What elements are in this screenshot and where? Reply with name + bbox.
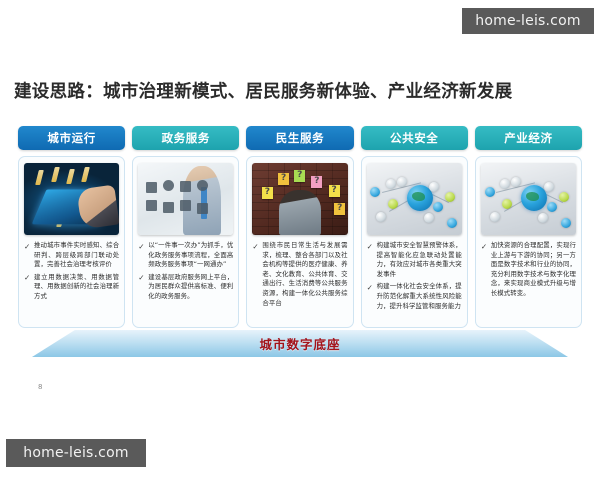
bullet-list: ✓ 推动城市事件实时感知、综合研判、跨层级跨部门联动处置，完善社会治理考核评价 … — [24, 241, 119, 322]
public-safety-photo — [367, 163, 462, 235]
public-livelihood-photo — [252, 163, 347, 235]
card-public-safety[interactable]: ✓ 构建城市安全智慧预警体系，提高智能化应急联动处置能力，有效应对城市各类重大突… — [361, 156, 468, 328]
tab-industry-economy[interactable]: 产业经济 — [475, 126, 582, 150]
tab-label: 政务服务 — [162, 130, 210, 146]
card-government-service[interactable]: ✓ 以“一件事一次办”为抓手，优化政务服务事项流程，全面高频政务服务事项“一网通… — [132, 156, 239, 328]
bullet-text: 围绕市民日常生活与发展需求，梳理、整合各部门以及社会机构等提供的医疗健康、养老、… — [262, 241, 347, 308]
bullet-text: 构建城市安全智慧预警体系，提高智能化应急联动处置能力，有效应对城市各类重大突发事… — [377, 241, 462, 279]
digital-foundation-label: 城市数字底座 — [259, 334, 340, 353]
bullet-list: ✓ 围绕市民日常生活与发展需求，梳理、整合各部门以及社会机构等提供的医疗健康、养… — [252, 241, 347, 322]
bullet-text: 构建一体化社会安全体系，提升防范化解重大系统性风险能力，提升科学监管和服务能力 — [377, 282, 462, 311]
watermark-bottom: home-leis.com — [6, 439, 146, 467]
tab-government-service[interactable]: 政务服务 — [132, 126, 239, 150]
card-row: ✓ 推动城市事件实时感知、综合研判、跨层级跨部门联动处置，完善社会治理考核评价 … — [18, 156, 582, 328]
list-item: ✓ 加快资源的合理配置，实现行业上游与下游的协同；另一方面是数字技术和行业的协同… — [481, 241, 576, 299]
bullet-list: ✓ 构建城市安全智慧预警体系，提高智能化应急联动处置能力，有效应对城市各类重大突… — [367, 241, 462, 322]
tab-public-livelihood[interactable]: 民生服务 — [246, 126, 353, 150]
check-icon: ✓ — [24, 273, 32, 283]
bullet-text: 建设基层政府服务网上平台，为居民群众提供高标准、便利化的政务服务。 — [148, 273, 233, 302]
check-icon: ✓ — [252, 242, 260, 252]
bullet-list: ✓ 加快资源的合理配置，实现行业上游与下游的协同；另一方面是数字技术和行业的协同… — [481, 241, 576, 322]
bullet-text: 加快资源的合理配置，实现行业上游与下游的协同；另一方面是数字技术和行业的协同，充… — [491, 241, 576, 299]
bullet-text: 推动城市事件实时感知、综合研判、跨层级跨部门联动处置，完善社会治理考核评价 — [34, 241, 119, 270]
card-industry-economy[interactable]: ✓ 加快资源的合理配置，实现行业上游与下游的协同；另一方面是数字技术和行业的协同… — [475, 156, 582, 328]
list-item: ✓ 以“一件事一次办”为抓手，优化政务服务事项流程，全面高频政务服务事项“一网通… — [138, 241, 233, 270]
tab-label: 城市运行 — [47, 130, 95, 146]
list-item: ✓ 围绕市民日常生活与发展需求，梳理、整合各部门以及社会机构等提供的医疗健康、养… — [252, 241, 347, 308]
list-item: ✓ 建设基层政府服务网上平台，为居民群众提供高标准、便利化的政务服务。 — [138, 273, 233, 302]
tab-public-safety[interactable]: 公共安全 — [361, 126, 468, 150]
slide-canvas: home-leis.com 建设思路：城市治理新模式、居民服务新体验、产业经济新… — [0, 0, 600, 480]
check-icon: ✓ — [367, 242, 375, 252]
tab-label: 产业经济 — [504, 130, 552, 146]
city-operation-photo — [24, 163, 119, 235]
tab-city-operation[interactable]: 城市运行 — [18, 126, 125, 150]
bullet-text: 建立用数据决策、用数据管理、用数据创新的社会治理新方式 — [34, 273, 119, 302]
tab-label: 公共安全 — [390, 130, 438, 146]
list-item: ✓ 构建一体化社会安全体系，提升防范化解重大系统性风险能力，提升科学监管和服务能… — [367, 282, 462, 311]
government-service-photo — [138, 163, 233, 235]
category-tab-strip: 城市运行 政务服务 民生服务 公共安全 产业经济 — [18, 126, 582, 150]
bullet-list: ✓ 以“一件事一次办”为抓手，优化政务服务事项流程，全面高频政务服务事项“一网通… — [138, 241, 233, 322]
check-icon: ✓ — [138, 273, 146, 283]
industry-economy-photo — [481, 163, 576, 235]
watermark-top: home-leis.com — [462, 8, 594, 34]
check-icon: ✓ — [138, 242, 146, 252]
tab-label: 民生服务 — [276, 130, 324, 146]
list-item: ✓ 建立用数据决策、用数据管理、用数据创新的社会治理新方式 — [24, 273, 119, 302]
card-city-operation[interactable]: ✓ 推动城市事件实时感知、综合研判、跨层级跨部门联动处置，完善社会治理考核评价 … — [18, 156, 125, 328]
digital-foundation-banner: 城市数字底座 — [32, 330, 568, 357]
list-item: ✓ 构建城市安全智慧预警体系，提高智能化应急联动处置能力，有效应对城市各类重大突… — [367, 241, 462, 279]
list-item: ✓ 推动城市事件实时感知、综合研判、跨层级跨部门联动处置，完善社会治理考核评价 — [24, 241, 119, 270]
card-public-livelihood[interactable]: ✓ 围绕市民日常生活与发展需求，梳理、整合各部门以及社会机构等提供的医疗健康、养… — [246, 156, 353, 328]
page-title: 建设思路：城市治理新模式、居民服务新体验、产业经济新发展 — [14, 78, 512, 103]
check-icon: ✓ — [24, 242, 32, 252]
bullet-text: 以“一件事一次办”为抓手，优化政务服务事项流程，全面高频政务服务事项“一网通办” — [148, 241, 233, 270]
check-icon: ✓ — [481, 242, 489, 252]
page-number: 8 — [38, 383, 42, 391]
check-icon: ✓ — [367, 283, 375, 293]
